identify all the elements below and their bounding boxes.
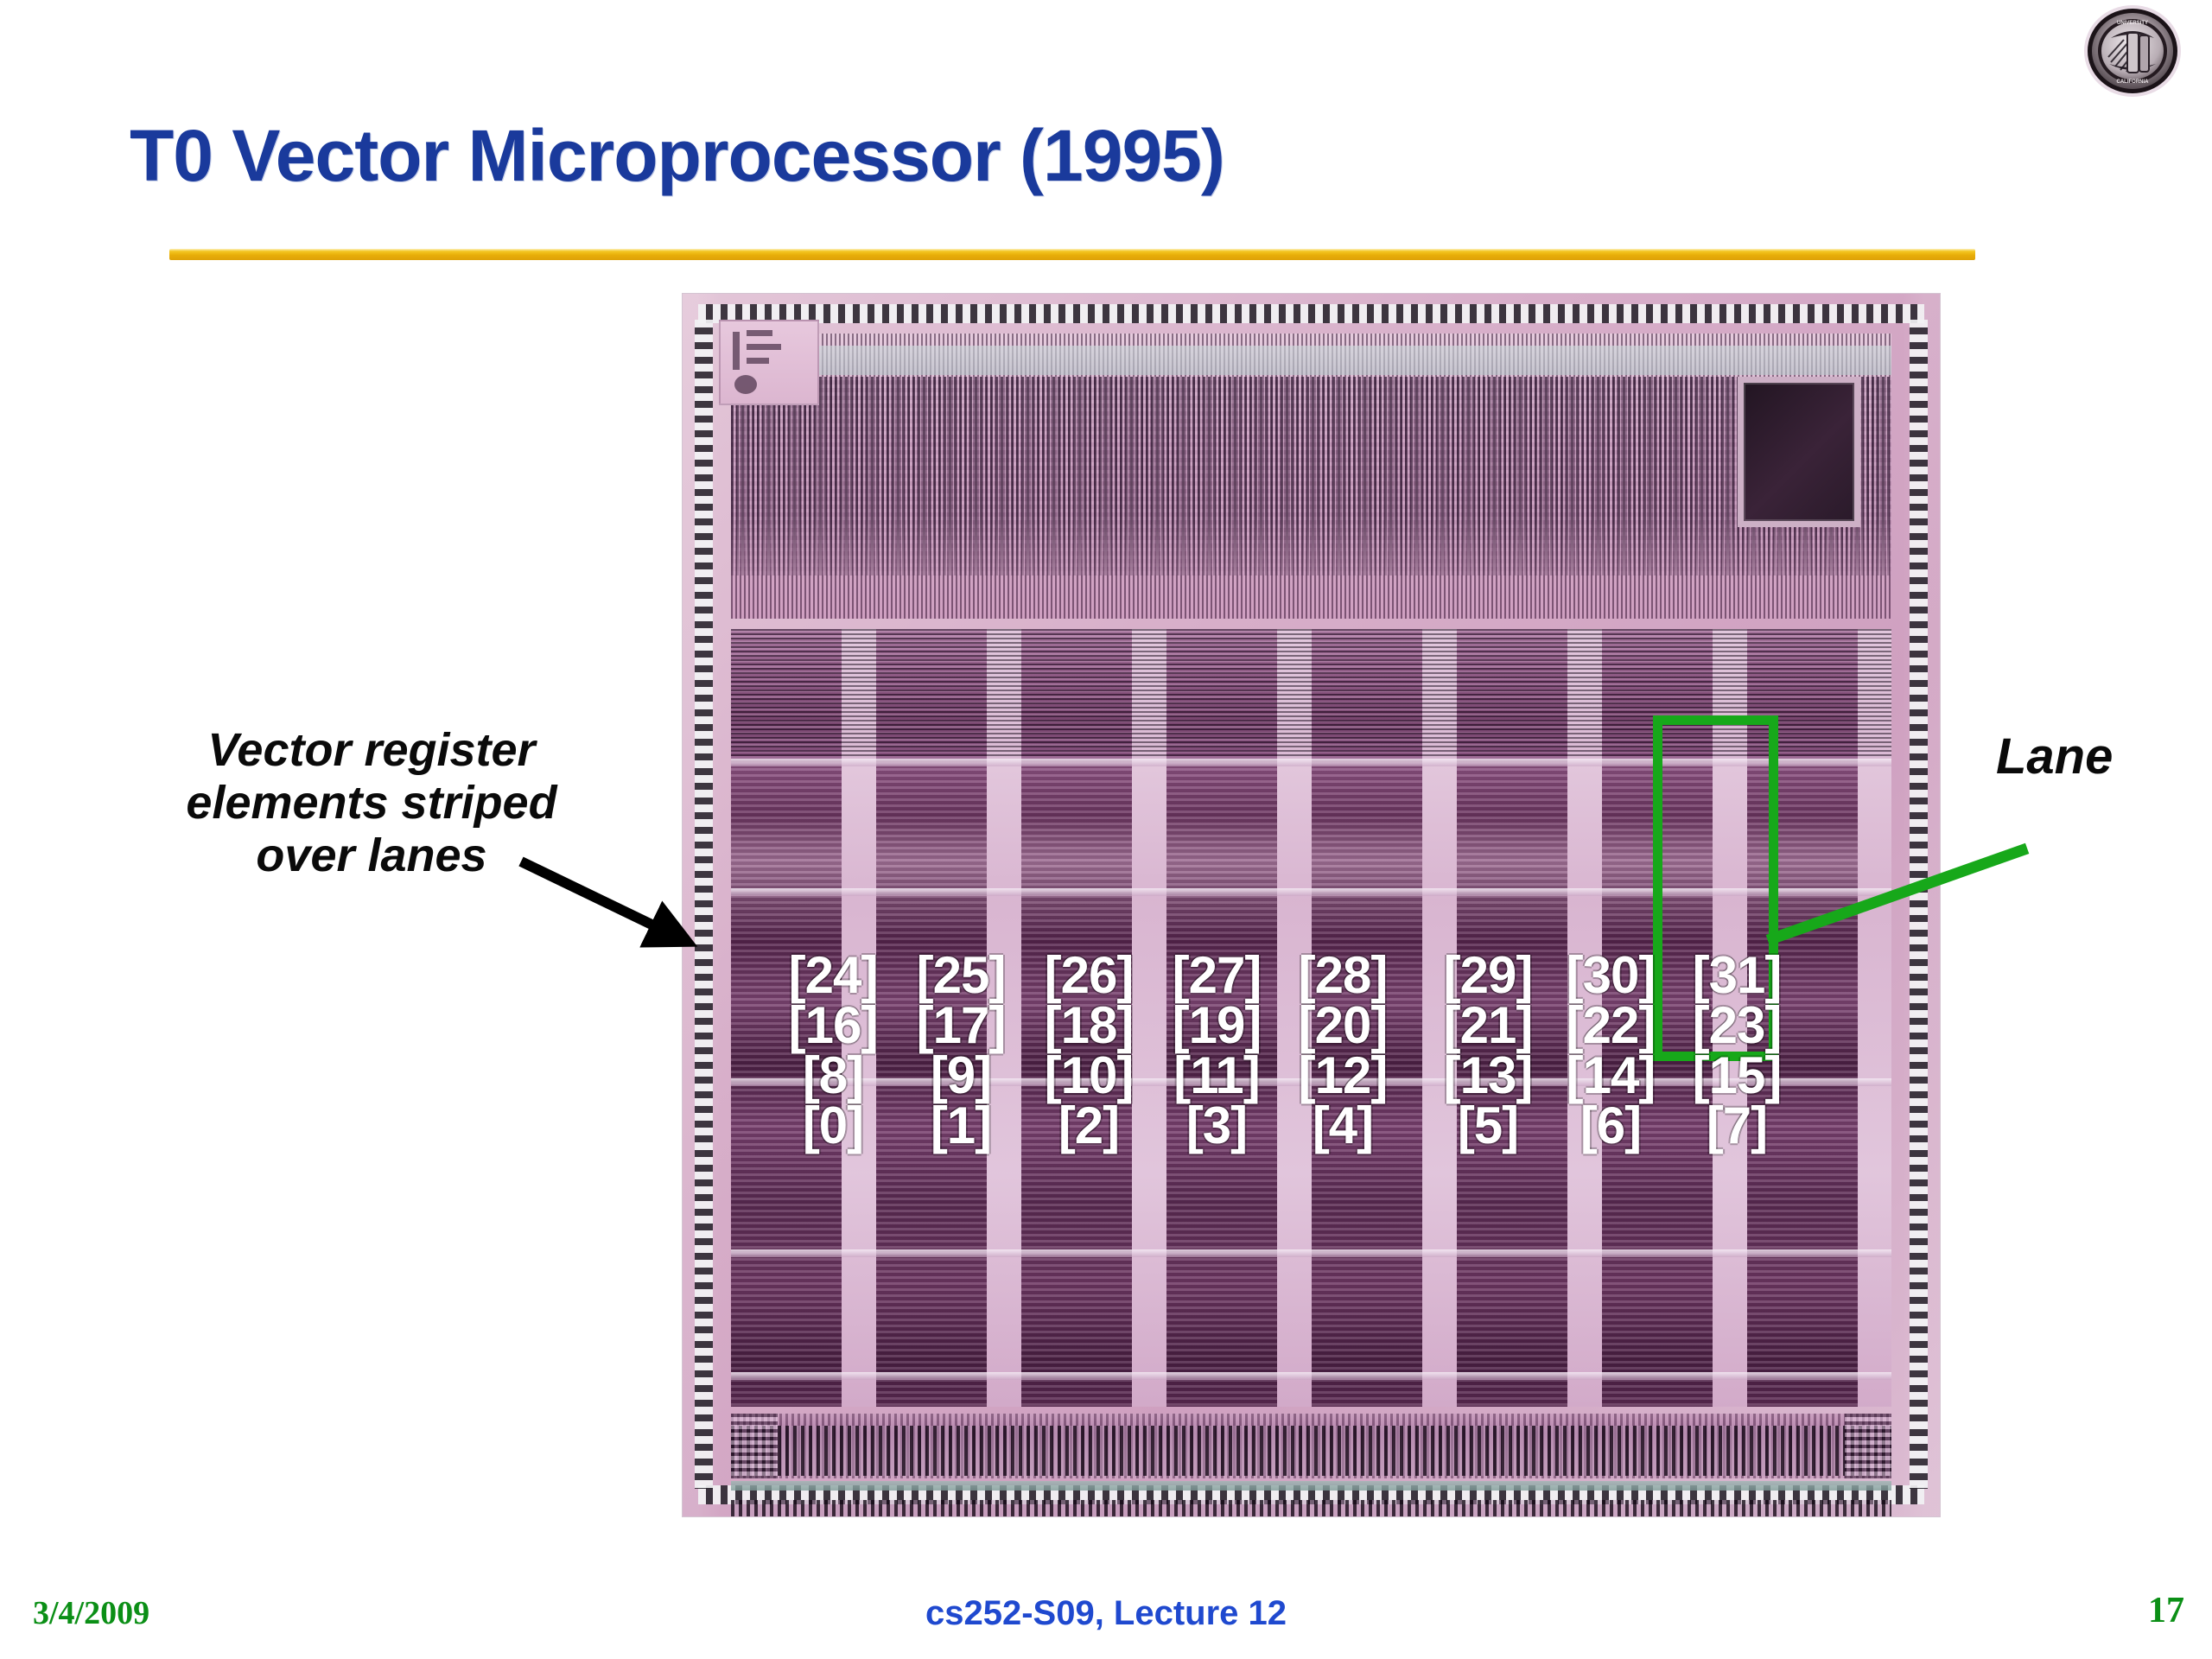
reg-column-lane-4: [28] [20] [12] [4]	[1292, 950, 1394, 1151]
die-memory-region	[731, 1414, 1891, 1478]
die-lane-rail	[731, 1249, 1891, 1257]
reg-label: [26]	[1038, 950, 1140, 1001]
reg-label: [0]	[782, 1101, 884, 1151]
reg-label: [27]	[1166, 950, 1268, 1001]
reg-label: [29]	[1437, 950, 1539, 1001]
reg-label: [15]	[1686, 1051, 1788, 1101]
pad-ring-left	[695, 320, 713, 1489]
die-lane-rail	[731, 1372, 1891, 1380]
register-element-labels: [24] [16] [8] [0] [25] [17] [9] [1] [26]…	[782, 950, 1806, 1166]
reg-column-lane-6: [30] [22] [14] [6]	[1560, 950, 1662, 1151]
pad-ring-right	[1910, 320, 1928, 1489]
die-bus-band	[731, 346, 1891, 375]
die-sram-block	[1738, 377, 1860, 527]
reg-label: [24]	[782, 950, 884, 1001]
reg-column-lane-7: [31] [23] [15] [7]	[1686, 950, 1788, 1151]
reg-label: [11]	[1166, 1051, 1268, 1101]
reg-label: [8]	[782, 1051, 884, 1101]
uc-berkeley-seal: UNIVERSITY CALIFORNIA	[2063, 3, 2202, 99]
vector-register-annotation: Vector register elements striped over la…	[104, 724, 639, 882]
lane-label: Lane	[1996, 730, 2113, 784]
die-metal-strap	[731, 1481, 1891, 1491]
reg-label: [14]	[1560, 1051, 1662, 1101]
reg-column-lane-5: [29] [21] [13] [5]	[1437, 950, 1539, 1151]
reg-label: [28]	[1292, 950, 1394, 1001]
reg-label: [13]	[1437, 1051, 1539, 1101]
reg-label: [12]	[1292, 1051, 1394, 1101]
reg-label: [16]	[782, 1001, 884, 1051]
annotation-line-1: Vector register	[104, 724, 639, 777]
reg-label: [5]	[1437, 1101, 1539, 1151]
die-array-row	[731, 1426, 1891, 1476]
die-random-logic	[731, 377, 1891, 575]
reg-label: [1]	[910, 1101, 1012, 1151]
reg-label: [7]	[1686, 1101, 1788, 1151]
svg-text:CALIFORNIA: CALIFORNIA	[2117, 79, 2150, 85]
pad-ring-top	[698, 304, 1924, 323]
footer-page-number: 17	[2148, 1590, 2184, 1631]
die-side-column-left	[731, 1414, 778, 1478]
reg-column-lane-2: [26] [18] [10] [2]	[1038, 950, 1140, 1151]
title-underline-rule	[169, 249, 1975, 260]
reg-label: [20]	[1292, 1001, 1394, 1051]
reg-label: [4]	[1292, 1101, 1394, 1151]
slide-title: T0 Vector Microprocessor (1995)	[130, 114, 2031, 198]
die-array-row	[731, 1500, 1891, 1516]
reg-label: [3]	[1166, 1101, 1268, 1151]
die-corner-marking	[719, 320, 819, 405]
reg-label: [18]	[1038, 1001, 1140, 1051]
reg-column-lane-0: [24] [16] [8] [0]	[782, 950, 884, 1151]
reg-column-lane-1: [25] [17] [9] [1]	[910, 950, 1012, 1151]
reg-label: [6]	[1560, 1101, 1662, 1151]
reg-label: [21]	[1437, 1001, 1539, 1051]
reg-label: [10]	[1038, 1051, 1140, 1101]
reg-label: [9]	[910, 1051, 1012, 1101]
svg-text:UNIVERSITY: UNIVERSITY	[2117, 21, 2148, 26]
reg-column-lane-3: [27] [19] [11] [3]	[1166, 950, 1268, 1151]
reg-label: [19]	[1166, 1001, 1268, 1051]
reg-label: [22]	[1560, 1001, 1662, 1051]
reg-label: [31]	[1686, 950, 1788, 1001]
reg-label: [23]	[1686, 1001, 1788, 1051]
reg-label: [25]	[910, 950, 1012, 1001]
reg-label: [30]	[1560, 950, 1662, 1001]
reg-label: [2]	[1038, 1101, 1140, 1151]
annotation-line-3: over lanes	[104, 829, 639, 882]
footer-course: cs252-S09, Lecture 12	[0, 1594, 2212, 1633]
annotation-line-2: elements striped	[104, 777, 639, 829]
die-side-column-right	[1845, 1414, 1891, 1478]
reg-label: [17]	[910, 1001, 1012, 1051]
